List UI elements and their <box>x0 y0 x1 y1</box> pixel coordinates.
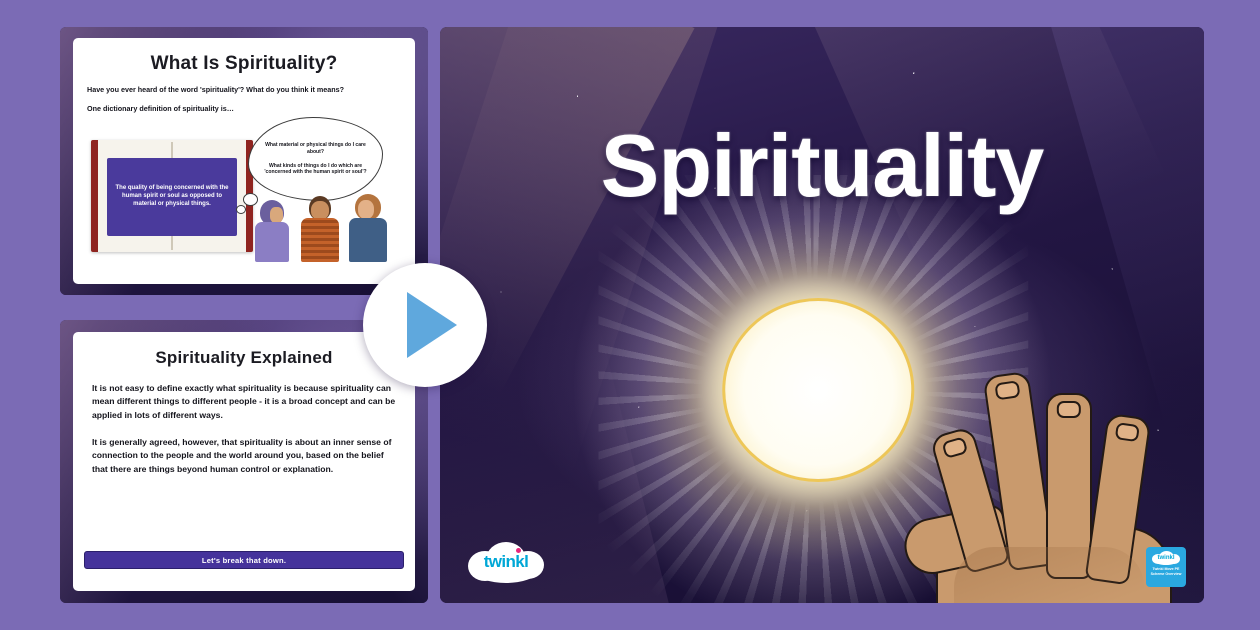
slide-1-content-card: What Is Spirituality? Have you ever hear… <box>73 38 415 284</box>
slide-2-title: Spirituality Explained <box>73 348 415 368</box>
fingernail <box>941 436 968 459</box>
person-figure-left <box>255 200 289 262</box>
badge-cloud-icon: twinkl <box>1151 551 1181 564</box>
people-illustration <box>253 190 393 262</box>
break-it-down-button-label: Let's break that down. <box>202 556 286 565</box>
fingernail <box>994 380 1020 400</box>
main-slide[interactable]: Spirituality twinkl twinkl Twinkl Move P… <box>440 27 1204 603</box>
slide-2-content-card: Spirituality Explained It is not easy to… <box>73 332 415 591</box>
preview-slide-1[interactable]: What Is Spirituality? Have you ever hear… <box>60 27 428 295</box>
person-body <box>301 218 339 262</box>
thought-bubble-question-1: What material or physical things do I ca… <box>260 142 371 156</box>
slide-1-illustration: The quality of being concerned with the … <box>73 112 415 278</box>
person-body <box>349 218 387 262</box>
fingernail <box>1115 422 1140 442</box>
book-edge-left <box>91 140 98 252</box>
play-button[interactable] <box>363 263 487 387</box>
book-definition-text: The quality of being concerned with the … <box>111 185 233 208</box>
thought-bubble-question-2: What kinds of things do I do which are '… <box>260 163 371 177</box>
fingernail <box>1057 401 1081 418</box>
logo-dot-icon <box>516 548 521 553</box>
person-figure-right <box>349 194 387 262</box>
break-it-down-button[interactable]: Let's break that down. <box>84 551 404 569</box>
person-face <box>270 207 283 223</box>
badge-line-2: Scheme Overview <box>1146 572 1186 577</box>
open-book-icon: The quality of being concerned with the … <box>91 140 253 252</box>
thought-bubble-icon: What material or physical things do I ca… <box>248 117 383 201</box>
badge-logo-text: twinkl <box>1151 555 1181 561</box>
play-triangle-icon <box>407 292 457 358</box>
glowing-orb-icon <box>725 301 911 479</box>
slide-2-paragraph-2: It is generally agreed, however, that sp… <box>92 436 396 476</box>
person-figure-middle <box>301 196 339 262</box>
main-slide-title: Spirituality <box>440 115 1204 217</box>
preview-slide-2[interactable]: Spirituality Explained It is not easy to… <box>60 320 428 603</box>
badge-caption: Twinkl Move PE Scheme Overview <box>1146 567 1186 577</box>
hand-shading <box>954 547 1144 603</box>
slide-1-paragraph-1: Have you ever heard of the word 'spiritu… <box>87 85 401 95</box>
slide-1-title: What Is Spirituality? <box>73 53 415 75</box>
slide-2-paragraph-1: It is not easy to define exactly what sp… <box>92 382 396 422</box>
presentation-preview-stage: What Is Spirituality? Have you ever hear… <box>0 0 1260 630</box>
book-definition-box: The quality of being concerned with the … <box>107 158 237 236</box>
twinkl-logo-text: twinkl <box>462 552 550 572</box>
person-body <box>255 222 289 262</box>
twinkl-logo: twinkl <box>462 539 550 585</box>
twinkl-scheme-badge: twinkl Twinkl Move PE Scheme Overview <box>1146 547 1186 587</box>
person-face <box>358 200 374 219</box>
